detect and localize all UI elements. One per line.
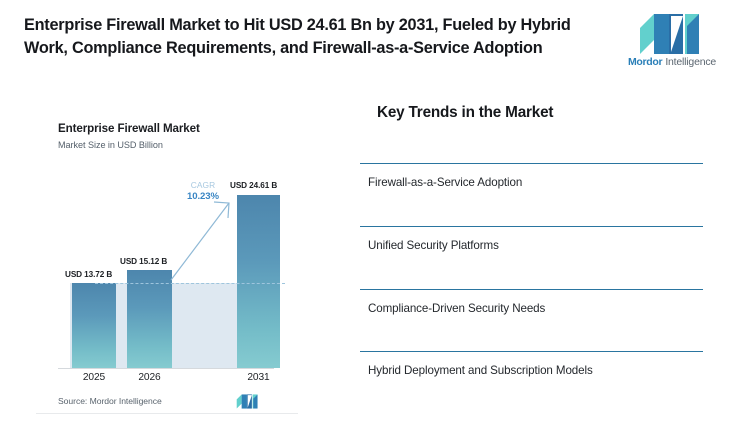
cagr-annotation: CAGR 10.23% <box>177 180 229 202</box>
trend-item-1[interactable]: Firewall-as-a-Service Adoption <box>360 163 703 225</box>
bar-label-2031: USD 24.61 B <box>230 181 277 190</box>
cagr-value: 10.23% <box>177 191 229 202</box>
trend-item-4[interactable]: Hybrid Deployment and Subscription Model… <box>360 351 703 413</box>
market-size-chart-card: Enterprise Firewall Market Market Size i… <box>36 104 298 414</box>
trend-item-3[interactable]: Compliance-Driven Security Needs <box>360 289 703 351</box>
slide-root: Enterprise Firewall Market to Hit USD 24… <box>0 0 750 438</box>
x-axis-tick-2031: 2031 <box>237 372 280 383</box>
trend-divider <box>360 226 703 227</box>
trend-item-2[interactable]: Unified Security Platforms <box>360 226 703 288</box>
cagr-label: CAGR <box>177 180 229 190</box>
key-trends-panel: Key Trends in the Market Firewall-as-a-S… <box>360 100 715 400</box>
trend-item-label: Unified Security Platforms <box>368 239 499 252</box>
bar-label-2026: USD 15.12 B <box>120 257 167 266</box>
x-axis-tick-2026: 2026 <box>127 372 172 383</box>
trend-divider <box>360 163 703 164</box>
x-axis-tick-2025: 2025 <box>72 372 116 383</box>
trend-item-label: Firewall-as-a-Service Adoption <box>368 176 522 189</box>
bar-2026 <box>127 270 172 368</box>
chart-plot-area: USD 13.72 B USD 15.12 B USD 24.61 B CAGR… <box>36 104 298 414</box>
logo-word-primary: Mordor <box>628 56 662 68</box>
header: Enterprise Firewall Market to Hit USD 24… <box>0 0 750 92</box>
mordor-logo-mark <box>638 14 706 54</box>
bar-label-2025: USD 13.72 B <box>65 270 112 279</box>
chart-mordor-logo-mark <box>236 394 260 409</box>
x-axis-line <box>58 368 274 369</box>
gridline-dashed <box>95 283 285 284</box>
trend-item-label: Hybrid Deployment and Subscription Model… <box>368 364 593 377</box>
chart-source-text: Source: Mordor Intelligence <box>58 396 162 406</box>
bar-2025 <box>72 283 116 368</box>
trend-divider <box>360 289 703 290</box>
bar-2031 <box>237 195 280 368</box>
mordor-logo-wordmark: MordorIntelligence <box>617 56 727 68</box>
trend-divider <box>360 351 703 352</box>
mordor-intelligence-logo: MordorIntelligence <box>617 14 727 74</box>
key-trends-title: Key Trends in the Market <box>377 104 553 122</box>
page-title: Enterprise Firewall Market to Hit USD 24… <box>24 14 604 59</box>
logo-word-secondary: Intelligence <box>665 56 716 68</box>
trend-item-label: Compliance-Driven Security Needs <box>368 302 545 315</box>
